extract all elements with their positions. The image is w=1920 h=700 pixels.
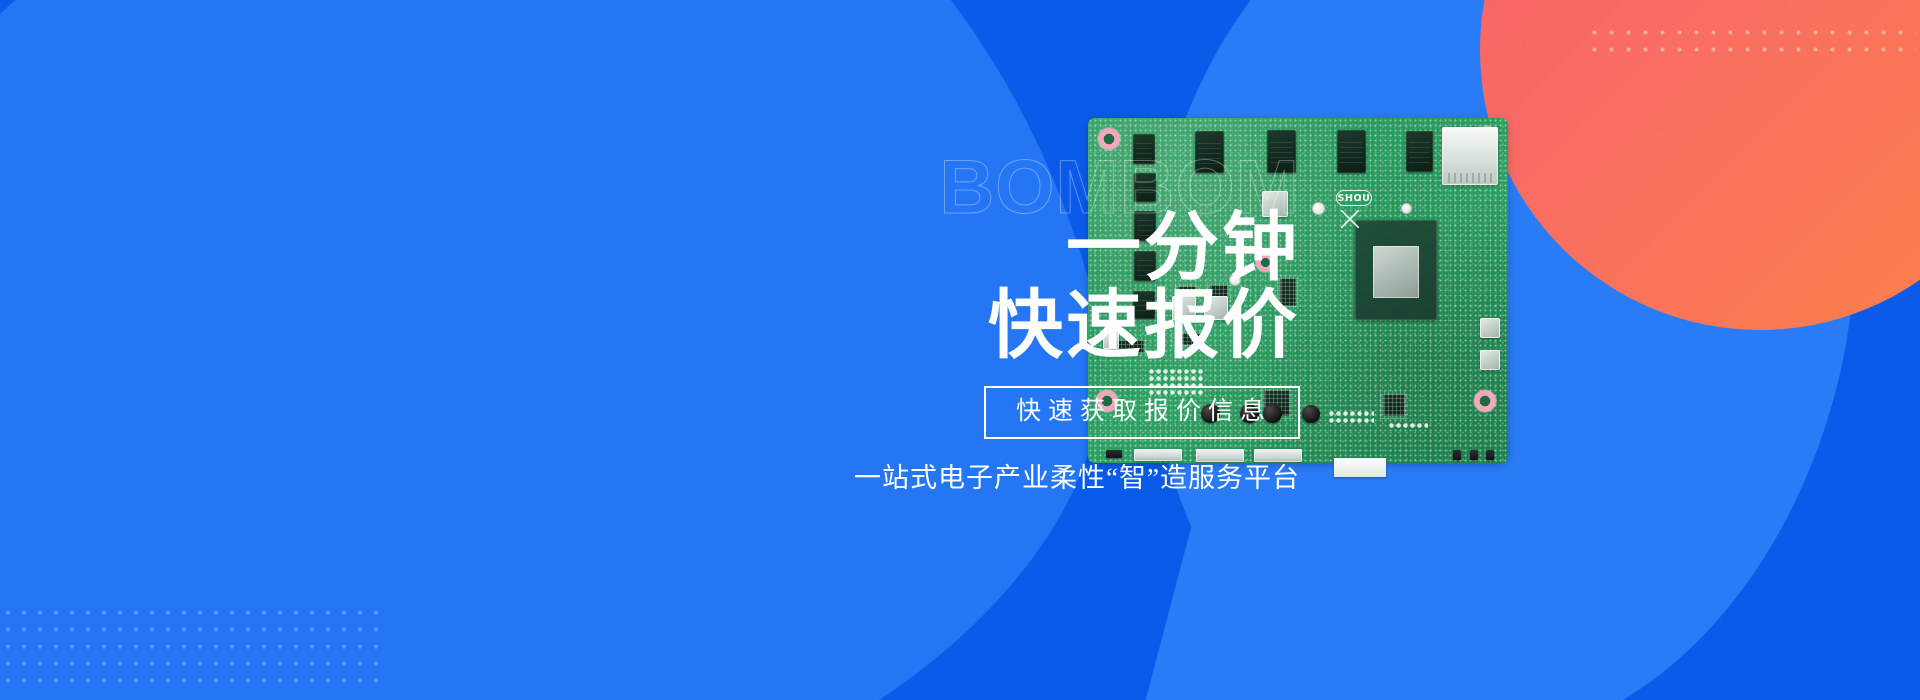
headline-line-2: 快速报价 [740, 286, 1300, 364]
mounting-hole [1098, 128, 1120, 150]
no-disposal-icon [1341, 210, 1359, 228]
rohs-marking: SHOU [1336, 190, 1372, 206]
processor-chip [1355, 220, 1437, 320]
pad-array [1328, 410, 1374, 424]
mounting-hole [1474, 390, 1496, 412]
banner-copy: BOMBOM 一分钟 快速报价 快速获取报价信息 一站式电子产业柔性“智”造服务… [740, 150, 1300, 495]
dot-grid-top-right [1586, 24, 1916, 62]
tagline: 一站式电子产业柔性“智”造服务平台 [740, 456, 1300, 495]
memory-chip [1337, 130, 1366, 173]
page-title: 一分钟 快速报价 [740, 208, 1300, 364]
memory-chip [1406, 131, 1433, 172]
pad-array [1388, 422, 1428, 430]
capacitor [1302, 405, 1320, 423]
inductor [1480, 318, 1500, 338]
get-quote-button[interactable]: 快速获取报价信息 [984, 386, 1300, 439]
dot-grid-bottom-left [0, 604, 380, 686]
test-pad [1312, 202, 1325, 215]
inductor [1480, 350, 1500, 370]
sim-card-slot [1442, 127, 1498, 185]
edge-connector [1470, 450, 1478, 460]
edge-connector [1453, 450, 1461, 460]
edge-connector [1486, 450, 1494, 460]
board-label [1334, 458, 1386, 477]
qfp-chip [1383, 394, 1405, 416]
test-pad [1401, 203, 1412, 214]
promo-banner: SHOU BOMBOM 一 [0, 0, 1920, 700]
headline-line-1: 一分钟 [1066, 205, 1300, 289]
processor-die [1373, 246, 1419, 298]
